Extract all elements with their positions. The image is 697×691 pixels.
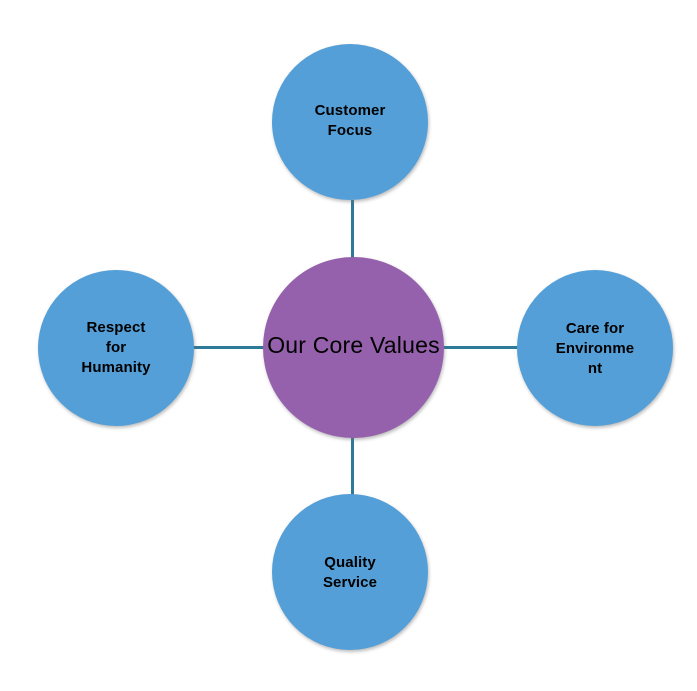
node-customer-focus-label: Customer Focus bbox=[315, 101, 386, 141]
node-care-for-environment[interactable]: Care for Environme nt bbox=[517, 270, 673, 426]
node-core-values-label: Our Core Values bbox=[267, 331, 440, 361]
node-quality-service[interactable]: Quality Service bbox=[272, 494, 428, 650]
node-care-for-environment-label: Care for Environme nt bbox=[556, 319, 634, 379]
connector-center-to-left bbox=[190, 346, 266, 349]
core-values-diagram: Customer Focus Care for Environme nt Qua… bbox=[0, 0, 697, 691]
node-respect-for-humanity[interactable]: Respect for Humanity bbox=[38, 270, 194, 426]
connector-center-to-right bbox=[441, 346, 519, 349]
node-quality-service-label: Quality Service bbox=[323, 553, 377, 593]
node-respect-for-humanity-label: Respect for Humanity bbox=[81, 318, 150, 378]
node-core-values-hub[interactable]: Our Core Values bbox=[263, 257, 444, 438]
node-customer-focus[interactable]: Customer Focus bbox=[272, 44, 428, 200]
